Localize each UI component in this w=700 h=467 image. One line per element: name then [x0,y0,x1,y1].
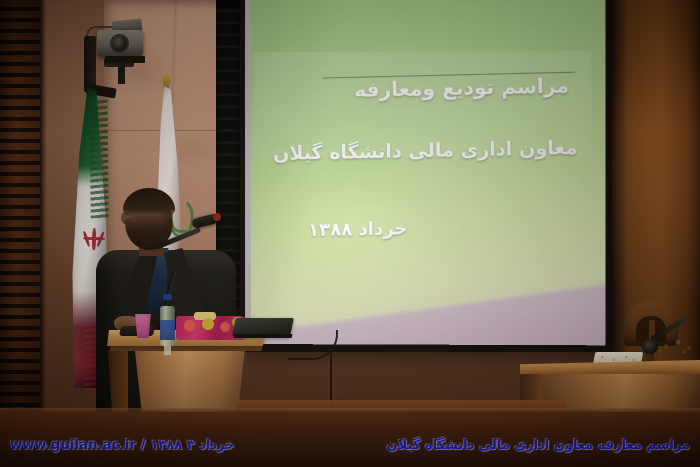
bottle-label [160,320,175,340]
camera-base-plate [105,56,145,63]
bottle-cap [163,294,172,300]
slide-title-line-1: مراسم تودیع ومعارفه [354,73,569,102]
camera-lens-icon [112,36,127,51]
footer-caption-right: مراسم معارفه معاون اداری مالی دانشگاه گی… [387,438,690,453]
flower-bloom [184,320,195,331]
bottle-neck [164,346,171,355]
desk-plant-decoration [658,336,698,360]
photograph-scene: مراسم تودیع ومعارفه معاون اداری مالی دان… [0,0,700,467]
footer-caption-left: www.guilan.ac.ir / ۱۳۸۸ خرداد ۳ [10,438,234,453]
slat-panel-edge [40,0,46,420]
flower-bloom [220,322,230,332]
speaker-hair [123,188,175,218]
flower-bloom [202,318,214,330]
screen-left-border [245,0,251,344]
wooden-acoustic-slat-panel [0,0,40,420]
camera-post [118,62,125,84]
desk-microphone-base [642,340,658,354]
water-bottle [160,294,175,346]
slide-date-line: خرداد ۱۳۸۸ [308,218,408,241]
desk-top-surface [520,360,700,374]
projection-screen-surface: مراسم تودیع ومعارفه معاون اداری مالی دان… [245,0,606,345]
laptop-base-edge [234,334,293,338]
projection-screen: مراسم تودیع ومعارفه معاون اداری مالی دان… [240,0,608,352]
